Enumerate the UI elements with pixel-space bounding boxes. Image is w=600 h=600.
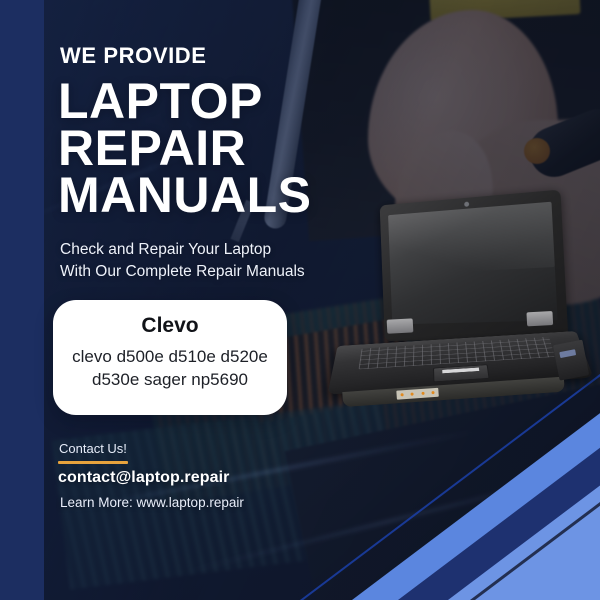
subheadline-line-2: With Our Complete Repair Manuals xyxy=(60,261,305,283)
eyebrow-text: WE PROVIDE xyxy=(60,45,207,67)
subheadline: Check and Repair Your Laptop With Our Co… xyxy=(60,239,305,283)
page-title: LAPTOP REPAIR MANUALS xyxy=(58,78,358,219)
headline-line-1: LAPTOP xyxy=(58,78,358,125)
contact-underline-accent xyxy=(58,461,128,464)
promotional-poster: WE PROVIDE LAPTOP REPAIR MANUALS Check a… xyxy=(0,0,600,600)
headline-line-3: MANUALS xyxy=(58,172,358,219)
contact-label: Contact Us! xyxy=(59,442,127,457)
contact-email[interactable]: contact@laptop.repair xyxy=(58,469,230,487)
product-model-line-2: d530e sager np5690 xyxy=(63,369,277,392)
contact-website[interactable]: Learn More: www.laptop.repair xyxy=(60,495,244,510)
product-card: Clevo clevo d500e d510e d520e d530e sage… xyxy=(53,300,287,415)
poster-content: WE PROVIDE LAPTOP REPAIR MANUALS Check a… xyxy=(0,0,600,600)
product-model-list: clevo d500e d510e d520e d530e sager np56… xyxy=(63,346,277,391)
product-brand-title: Clevo xyxy=(63,314,277,337)
product-model-line-1: clevo d500e d510e d520e xyxy=(63,346,277,369)
subheadline-line-1: Check and Repair Your Laptop xyxy=(60,239,305,261)
headline-line-2: REPAIR xyxy=(58,125,358,172)
